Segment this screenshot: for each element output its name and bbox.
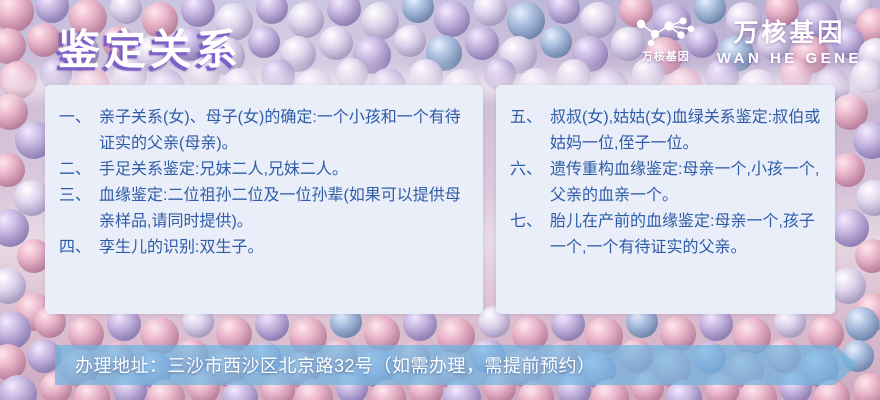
list-item-text: 手足关系鉴定:兄妹二人,兄妹二人。 <box>99 157 469 183</box>
list-item-marker: 一、 <box>59 105 99 131</box>
list-item-marker: 四、 <box>59 235 99 261</box>
address-text: 办理地址：三沙市西沙区北京路32号（如需办理，需提前预约） <box>75 345 596 385</box>
address-banner: 办理地址：三沙市西沙区北京路32号（如需办理，需提前预约） <box>55 345 857 385</box>
brand-name-cn: 万核基因 <box>733 13 845 49</box>
brand-name-en: WAN HE GENE <box>717 50 862 67</box>
list-item-text: 亲子关系(女)、母子(女)的确定:一个小孩和一个有待证实的父亲(母亲)。 <box>99 105 469 157</box>
right-info-card: 五、 叔叔(女),姑姑(女)血绿关系鉴定:叔伯或姑妈一位,侄子一位。 六、 遗传… <box>496 85 835 314</box>
list-item: 四、 孪生儿的识别:双生子。 <box>59 235 469 261</box>
list-item-marker: 五、 <box>510 105 550 131</box>
left-info-card: 一、 亲子关系(女)、母子(女)的确定:一个小孩和一个有待证实的父亲(母亲)。 … <box>45 85 483 314</box>
logo-mark-label: 万核基因 <box>642 48 690 64</box>
list-item: 六、 遗传重构血缘鉴定:母亲一个,小孩一个,父亲的血亲一个。 <box>510 157 821 209</box>
list-item: 二、 手足关系鉴定:兄妹二人,兄妹二人。 <box>59 157 469 183</box>
list-item: 七、 胎儿在产前的血缘鉴定:母亲一个,孩子一个,一个有待证实的父亲。 <box>510 209 821 261</box>
list-item-text: 孪生儿的识别:双生子。 <box>99 235 469 261</box>
list-item-text: 血缘鉴定:二位祖孙二位及一位孙辈(如果可以提供母亲样品,请同时提供)。 <box>99 183 469 235</box>
list-item-marker: 三、 <box>59 183 99 209</box>
logo-mark: 万核基因 <box>623 15 709 65</box>
molecule-icon <box>629 15 703 47</box>
list-item-text: 胎儿在产前的血缘鉴定:母亲一个,孩子一个,一个有待证实的父亲。 <box>550 209 821 261</box>
brand-logo: 万核基因 万核基因 WAN HE GENE <box>623 14 862 66</box>
list-item-marker: 六、 <box>510 157 550 183</box>
logo-wordmark: 万核基因 WAN HE GENE <box>717 13 862 67</box>
list-item-text: 遗传重构血缘鉴定:母亲一个,小孩一个,父亲的血亲一个。 <box>550 157 821 209</box>
content-cards: 一、 亲子关系(女)、母子(女)的确定:一个小孩和一个有待证实的父亲(母亲)。 … <box>45 85 835 314</box>
list-item: 三、 血缘鉴定:二位祖孙二位及一位孙辈(如果可以提供母亲样品,请同时提供)。 <box>59 183 469 235</box>
list-item: 五、 叔叔(女),姑姑(女)血绿关系鉴定:叔伯或姑妈一位,侄子一位。 <box>510 105 821 157</box>
list-item: 一、 亲子关系(女)、母子(女)的确定:一个小孩和一个有待证实的父亲(母亲)。 <box>59 105 469 157</box>
page-title: 鉴定关系 <box>58 16 242 77</box>
list-item-marker: 二、 <box>59 157 99 183</box>
poster-canvas: 鉴定关系 <box>0 0 880 400</box>
list-item-text: 叔叔(女),姑姑(女)血绿关系鉴定:叔伯或姑妈一位,侄子一位。 <box>550 105 821 157</box>
list-item-marker: 七、 <box>510 209 550 235</box>
